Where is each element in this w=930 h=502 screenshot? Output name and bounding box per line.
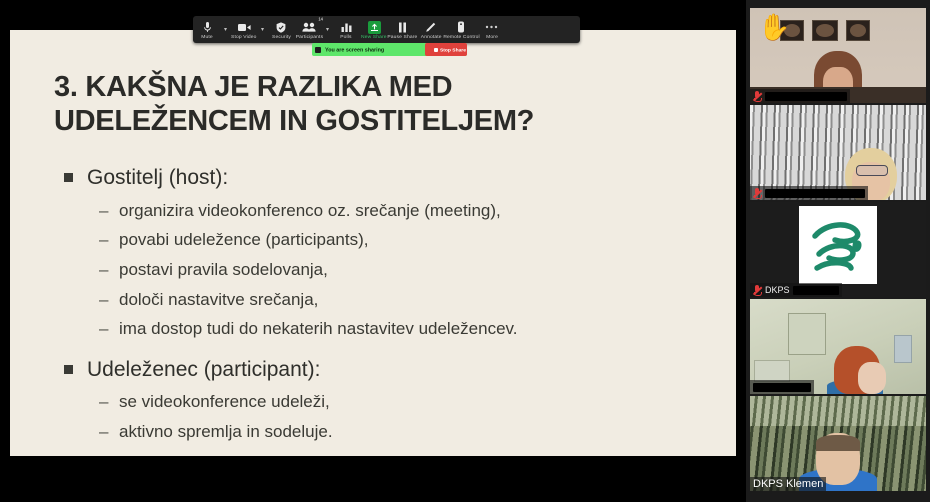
dash-bullet-icon: – [99,288,111,313]
toolbar-more-label: More [486,35,498,40]
video-chevron-down-icon[interactable]: ▾ [258,16,267,43]
stop-share-label: Stop Share [440,47,466,53]
shield-icon [276,21,286,34]
sub-bullet-text: se videokonference udeleži, [111,390,330,415]
toolbar-mute-label: Mute [201,35,213,40]
sub-bullet-text: ima dostop tudi do nekaterih nastavitev … [111,317,518,342]
screen-sharing-status-text: You are screen sharing [325,47,384,53]
sub-bullet-text: določi nastavitve srečanja, [111,288,318,313]
organization-logo-icon [799,206,877,284]
slide-bullet-heading: Udeleženec (participant): [54,356,702,384]
slide-title: 3. KAKŠNA JE RAZLIKA MED UDELEŽENCEM IN … [54,70,674,138]
participant-tile[interactable] [750,299,926,394]
redacted-name [765,189,865,198]
slide-sub-bullet: – postavi pravila sodelovanja, [54,258,702,283]
toolbar-pause-share-label: Pause Share [387,35,417,40]
toolbar-mute-button[interactable]: Mute [193,16,221,43]
participant-name-bar [750,380,814,394]
participants-chevron-down-icon[interactable]: ▾ [323,16,332,43]
slide-sub-bullet: – se videokonference udeleži, [54,390,702,415]
sub-bullet-text: postavi pravila sodelovanja, [111,258,328,283]
slide-sub-bullet: – povabi udeležence (participants), [54,228,702,253]
sub-bullet-text: aktivno spremlja in sodeluje. [111,420,333,445]
participant-tile-active-speaker[interactable]: DKPS Klemen [750,396,926,491]
pause-icon [398,21,407,34]
bullet-heading-text: Gostitelj (host): [87,164,228,192]
stop-square-icon [434,48,438,52]
sub-bullet-text: povabi udeležence (participants), [111,228,368,253]
screen-share-indicator-icon [315,47,321,53]
microphone-icon [204,21,211,34]
dash-bullet-icon: – [99,199,111,224]
toolbar-stop-video-button[interactable]: Stop Video [230,16,258,43]
participant-tile[interactable]: DKPS [750,202,926,297]
toolbar-pause-share-button[interactable]: Pause Share [388,16,417,43]
dash-bullet-icon: – [99,228,111,253]
participant-name-bar [750,186,868,200]
toolbar-more-button[interactable]: More [478,16,506,43]
slide-bullet-heading: Gostitelj (host): [54,164,702,192]
muted-microphone-icon [753,91,761,102]
participant-name-bar: DKPS [750,283,842,297]
pencil-icon [425,21,436,34]
dash-bullet-icon: – [99,390,111,415]
muted-microphone-icon [753,188,761,199]
zoom-meeting-toolbar[interactable]: Mute ▾ Stop Video ▾ Security 14 [193,16,580,43]
toolbar-polls-button[interactable]: Polls [332,16,360,43]
participants-count-badge: 14 [318,16,323,22]
redacted-name [793,286,839,295]
redacted-name [765,92,847,101]
dash-bullet-icon: – [99,258,111,283]
toolbar-annotate-label: Annotate [420,35,441,40]
video-camera-icon [238,21,251,34]
dash-bullet-icon: – [99,317,111,342]
participant-video-strip[interactable]: ✋ [746,0,930,502]
mute-chevron-down-icon[interactable]: ▾ [221,16,230,43]
poll-bars-icon [341,21,352,34]
square-bullet-icon [64,173,73,182]
toolbar-new-share-label: New Share [361,35,387,40]
dash-bullet-icon: – [99,420,111,445]
slide-sub-bullet: – določi nastavitve srečanja, [54,288,702,313]
participant-name-bar: DKPS Klemen [750,477,826,491]
slide-sub-bullet: – aktivno spremlja in sodeluje. [54,420,702,445]
toolbar-participants-label: Participants [295,35,322,40]
ellipsis-icon [485,21,498,34]
participants-icon [302,21,316,34]
toolbar-remote-control-button[interactable]: Remote Control [445,16,478,43]
slide-sub-bullet: – organizira videokonferenco oz. srečanj… [54,199,702,224]
presentation-slide: 3. KAKŠNA JE RAZLIKA MED UDELEŽENCEM IN … [10,30,736,456]
toolbar-new-share-button[interactable]: New Share [360,16,388,43]
toolbar-annotate-button[interactable]: Annotate [417,16,445,43]
participant-tile[interactable]: ✋ [750,8,926,103]
participant-tile[interactable] [750,105,926,200]
zoom-meeting-window: 3. KAKŠNA JE RAZLIKA MED UDELEŽENCEM IN … [0,0,930,502]
remote-control-icon [457,21,465,34]
toolbar-stop-video-label: Stop Video [231,35,256,40]
bullet-heading-text: Udeleženec (participant): [87,356,320,384]
new-share-icon [368,21,381,34]
muted-microphone-icon [753,285,761,296]
toolbar-security-label: Security [272,35,291,40]
square-bullet-icon [64,365,73,374]
raised-hand-icon: ✋ [758,14,790,40]
toolbar-polls-label: Polls [340,35,351,40]
redacted-name [753,383,811,392]
participant-name-bar [750,89,850,103]
toolbar-security-button[interactable]: Security [267,16,295,43]
toolbar-remote-control-label: Remote Control [443,35,479,40]
slide-sub-bullet: – ima dostop tudi do nekaterih nastavite… [54,317,702,342]
stop-share-button[interactable]: Stop Share [425,43,467,56]
participant-name: DKPS Klemen [753,478,823,490]
participant-name: DKPS [765,285,790,295]
toolbar-participants-button[interactable]: 14 Participants [295,16,323,43]
sub-bullet-text: organizira videokonferenco oz. srečanje … [111,199,501,224]
shared-screen-region: 3. KAKŠNA JE RAZLIKA MED UDELEŽENCEM IN … [0,0,746,502]
